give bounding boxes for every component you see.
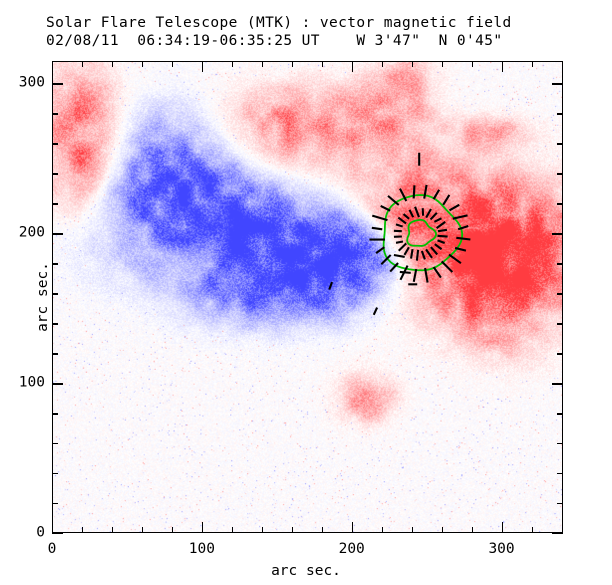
x-tick-top	[412, 61, 413, 67]
y-tick-label: 300	[4, 76, 45, 91]
vector-overlay	[53, 62, 562, 532]
y-tick-right	[552, 383, 563, 384]
x-tick-top	[532, 61, 533, 67]
y-tick-left	[52, 473, 58, 474]
x-tick-top	[382, 61, 383, 67]
y-tick-label: 0	[4, 526, 45, 541]
x-tick-bottom	[292, 527, 293, 533]
x-tick-bottom	[232, 527, 233, 533]
y-tick-right	[552, 83, 563, 84]
y-tick-left	[52, 233, 63, 234]
figure-subtitle: 02/08/11 06:34:19-06:35:25 UT W 3'47" N …	[46, 32, 586, 50]
x-tick-bottom	[322, 527, 323, 533]
x-tick-top	[352, 61, 353, 72]
x-tick-bottom	[442, 527, 443, 533]
x-tick-top	[472, 61, 473, 67]
x-tick-top	[112, 61, 113, 67]
y-tick-label: 100	[4, 376, 45, 391]
y-tick-right	[557, 113, 563, 114]
x-tick-bottom	[172, 527, 173, 533]
y-tick-right	[557, 413, 563, 414]
y-tick-right	[557, 203, 563, 204]
figure-header: Solar Flare Telescope (MTK) : vector mag…	[46, 14, 586, 50]
x-tick-top	[502, 61, 503, 72]
y-tick-left	[52, 323, 58, 324]
magnetogram-figure: Solar Flare Telescope (MTK) : vector mag…	[0, 0, 612, 585]
y-tick-right	[557, 443, 563, 444]
x-tick-bottom	[412, 527, 413, 533]
x-tick-bottom	[142, 527, 143, 533]
x-tick-label: 200	[339, 542, 365, 557]
x-tick-bottom	[82, 527, 83, 533]
y-tick-right	[557, 263, 563, 264]
plot-area	[52, 61, 563, 533]
y-axis-title: arc sec.	[35, 262, 51, 332]
x-tick-bottom	[382, 527, 383, 533]
x-tick-bottom	[112, 527, 113, 533]
sunspot-contour	[384, 195, 463, 270]
y-tick-left	[52, 83, 63, 84]
x-tick-top	[322, 61, 323, 67]
y-tick-left	[52, 293, 58, 294]
figure-title: Solar Flare Telescope (MTK) : vector mag…	[46, 14, 586, 32]
x-tick-top	[82, 61, 83, 67]
x-tick-top	[52, 61, 53, 72]
y-tick-left	[52, 353, 58, 354]
y-tick-left	[52, 113, 58, 114]
x-tick-label: 100	[189, 542, 215, 557]
y-tick-right	[557, 323, 563, 324]
x-tick-top	[262, 61, 263, 67]
y-tick-right	[557, 473, 563, 474]
vector-arrows	[329, 153, 470, 315]
y-tick-left	[52, 263, 58, 264]
y-tick-right	[557, 143, 563, 144]
y-tick-left	[52, 443, 58, 444]
x-tick-top	[172, 61, 173, 67]
y-tick-left	[52, 143, 58, 144]
y-tick-left	[52, 413, 58, 414]
x-tick-bottom	[532, 527, 533, 533]
x-tick-top	[442, 61, 443, 67]
x-tick-label: 0	[48, 542, 57, 557]
x-tick-top	[232, 61, 233, 67]
x-tick-top	[142, 61, 143, 67]
y-tick-left	[52, 533, 63, 534]
y-tick-right	[557, 353, 563, 354]
x-tick-top	[562, 61, 563, 67]
y-tick-right	[552, 533, 563, 534]
x-tick-bottom	[262, 527, 263, 533]
y-tick-left	[52, 203, 58, 204]
x-tick-bottom	[52, 522, 53, 533]
y-tick-right	[557, 173, 563, 174]
x-tick-top	[202, 61, 203, 72]
y-tick-left	[52, 173, 58, 174]
x-tick-bottom	[202, 522, 203, 533]
y-tick-left	[52, 503, 58, 504]
y-tick-left	[52, 383, 63, 384]
y-tick-right	[557, 293, 563, 294]
x-axis-title: arc sec.	[271, 563, 341, 579]
x-tick-label: 300	[488, 542, 514, 557]
y-tick-label: 200	[4, 226, 45, 241]
y-tick-right	[557, 503, 563, 504]
x-tick-bottom	[502, 522, 503, 533]
x-tick-bottom	[352, 522, 353, 533]
x-tick-bottom	[472, 527, 473, 533]
x-tick-top	[292, 61, 293, 67]
y-tick-right	[552, 233, 563, 234]
